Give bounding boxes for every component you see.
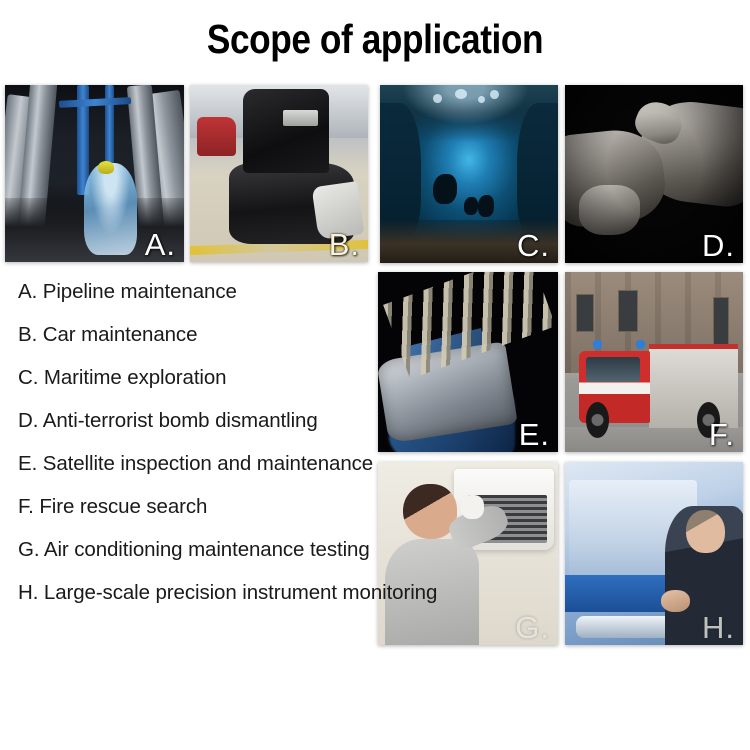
list-item: H. Large-scale precision instrument moni… xyxy=(18,579,518,606)
list-item: F. Fire rescue search xyxy=(18,493,376,520)
image-tile-e: E. xyxy=(378,272,558,452)
tile-letter-g: G. xyxy=(515,612,550,643)
tile-letter-c: C. xyxy=(517,230,550,261)
list-item: A. Pipeline maintenance xyxy=(18,278,376,305)
worker-figure xyxy=(84,163,138,255)
tile-letter-a: A. xyxy=(145,229,176,260)
tile-letter-h: H. xyxy=(702,612,735,643)
tile-letter-b: B. xyxy=(329,229,360,260)
scope-list: A. Pipeline maintenance B. Car maintenan… xyxy=(18,278,376,622)
page-title: Scope of application xyxy=(53,16,698,63)
image-tile-g: G. xyxy=(378,462,558,645)
image-tile-b: B. xyxy=(190,85,368,262)
list-item: B. Car maintenance xyxy=(18,321,376,348)
helmet xyxy=(98,161,114,173)
list-item: D. Anti-terrorist bomb dismantling xyxy=(18,407,376,434)
image-tile-h: H. xyxy=(565,462,743,645)
image-tile-a: A. xyxy=(5,85,184,262)
image-tile-d: D. xyxy=(565,85,743,263)
image-tile-f: F. xyxy=(565,272,743,452)
list-item: C. Maritime exploration xyxy=(18,364,376,391)
tile-letter-d: D. xyxy=(702,230,735,261)
list-item: E. Satellite inspection and maintenance xyxy=(18,450,376,477)
tile-letter-e: E. xyxy=(519,419,550,450)
tile-letter-f: F. xyxy=(709,419,735,450)
image-tile-c: C. xyxy=(380,85,558,263)
list-item: G. Air conditioning maintenance testing xyxy=(18,536,376,563)
